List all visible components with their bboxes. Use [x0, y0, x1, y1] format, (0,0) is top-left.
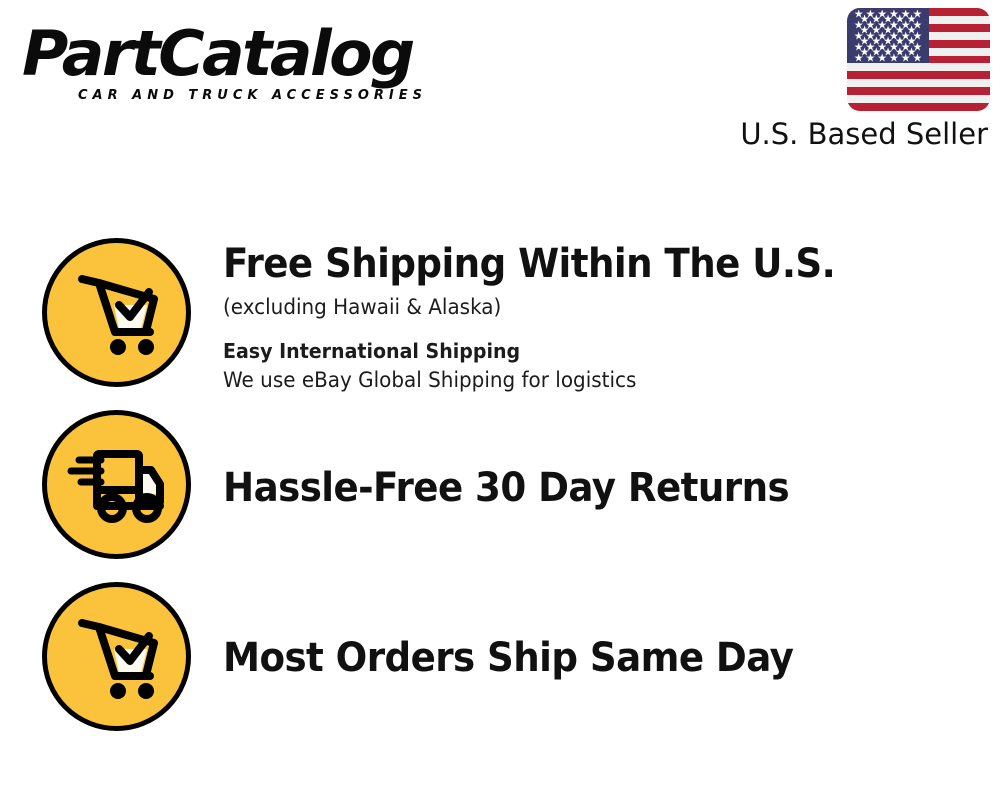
flag-star: ★ [877, 52, 887, 63]
flag-stripe [847, 71, 990, 79]
flag-stripe [847, 103, 990, 111]
feature-sub-text: We use eBay Global Shipping for logistic… [223, 366, 961, 394]
flag-stripe [847, 63, 990, 71]
feature-sub-heading: Easy International Shipping [223, 337, 961, 365]
feature-heading: Free Shipping Within The U.S. [223, 240, 946, 288]
brand-wordmark: PartCatalog [22, 22, 501, 86]
feature-list: Free Shipping Within The U.S. (excluding… [0, 238, 1000, 754]
feature-heading: Most Orders Ship Same Day [223, 634, 946, 682]
us-based-seller-label: U.S. Based Seller [740, 117, 988, 151]
flag-stripe [847, 87, 990, 95]
flag-star: ★ [866, 52, 876, 63]
us-flag-icon: ★★★★★★★★★★★★★★★★★★★★★★★★★★★★★★★★★★★★★★★★… [847, 8, 990, 111]
feature-row: Free Shipping Within The U.S. (excluding… [0, 238, 1000, 410]
flag-canton: ★★★★★★★★★★★★★★★★★★★★★★★★★★★★★★★★★★★★★★★★… [847, 8, 929, 63]
flag-star: ★ [913, 52, 923, 63]
feature-row: Hassle-Free 30 Day Returns [0, 410, 1000, 582]
flag-star: ★ [889, 52, 899, 63]
shopping-cart-check-icon [42, 582, 191, 731]
feature-heading: Hassle-Free 30 Day Returns [223, 464, 946, 512]
brand-logo[interactable]: PartCatalog CAR AND TRUCK ACCESSORIES [22, 22, 492, 118]
us-based-seller-badge: ★★★★★★★★★★★★★★★★★★★★★★★★★★★★★★★★★★★★★★★★… [710, 8, 990, 151]
feature-note: (excluding Hawaii & Alaska) [223, 293, 961, 321]
feature-row: Most Orders Ship Same Day [0, 582, 1000, 754]
flag-stripe [847, 79, 990, 87]
brand-tagline: CAR AND TRUCK ACCESSORIES [78, 88, 492, 103]
flag-stripe [847, 95, 990, 103]
delivery-truck-icon [42, 410, 191, 559]
promo-banner: PartCatalog CAR AND TRUCK ACCESSORIES ★★… [0, 0, 1000, 800]
flag-star: ★ [854, 52, 864, 63]
feature-text-block: Free Shipping Within The U.S. (excluding… [223, 238, 1000, 394]
feature-text-block: Hassle-Free 30 Day Returns [223, 410, 1000, 512]
feature-text-block: Most Orders Ship Same Day [223, 582, 1000, 682]
shopping-cart-check-icon [42, 238, 191, 387]
flag-star: ★ [901, 52, 911, 63]
